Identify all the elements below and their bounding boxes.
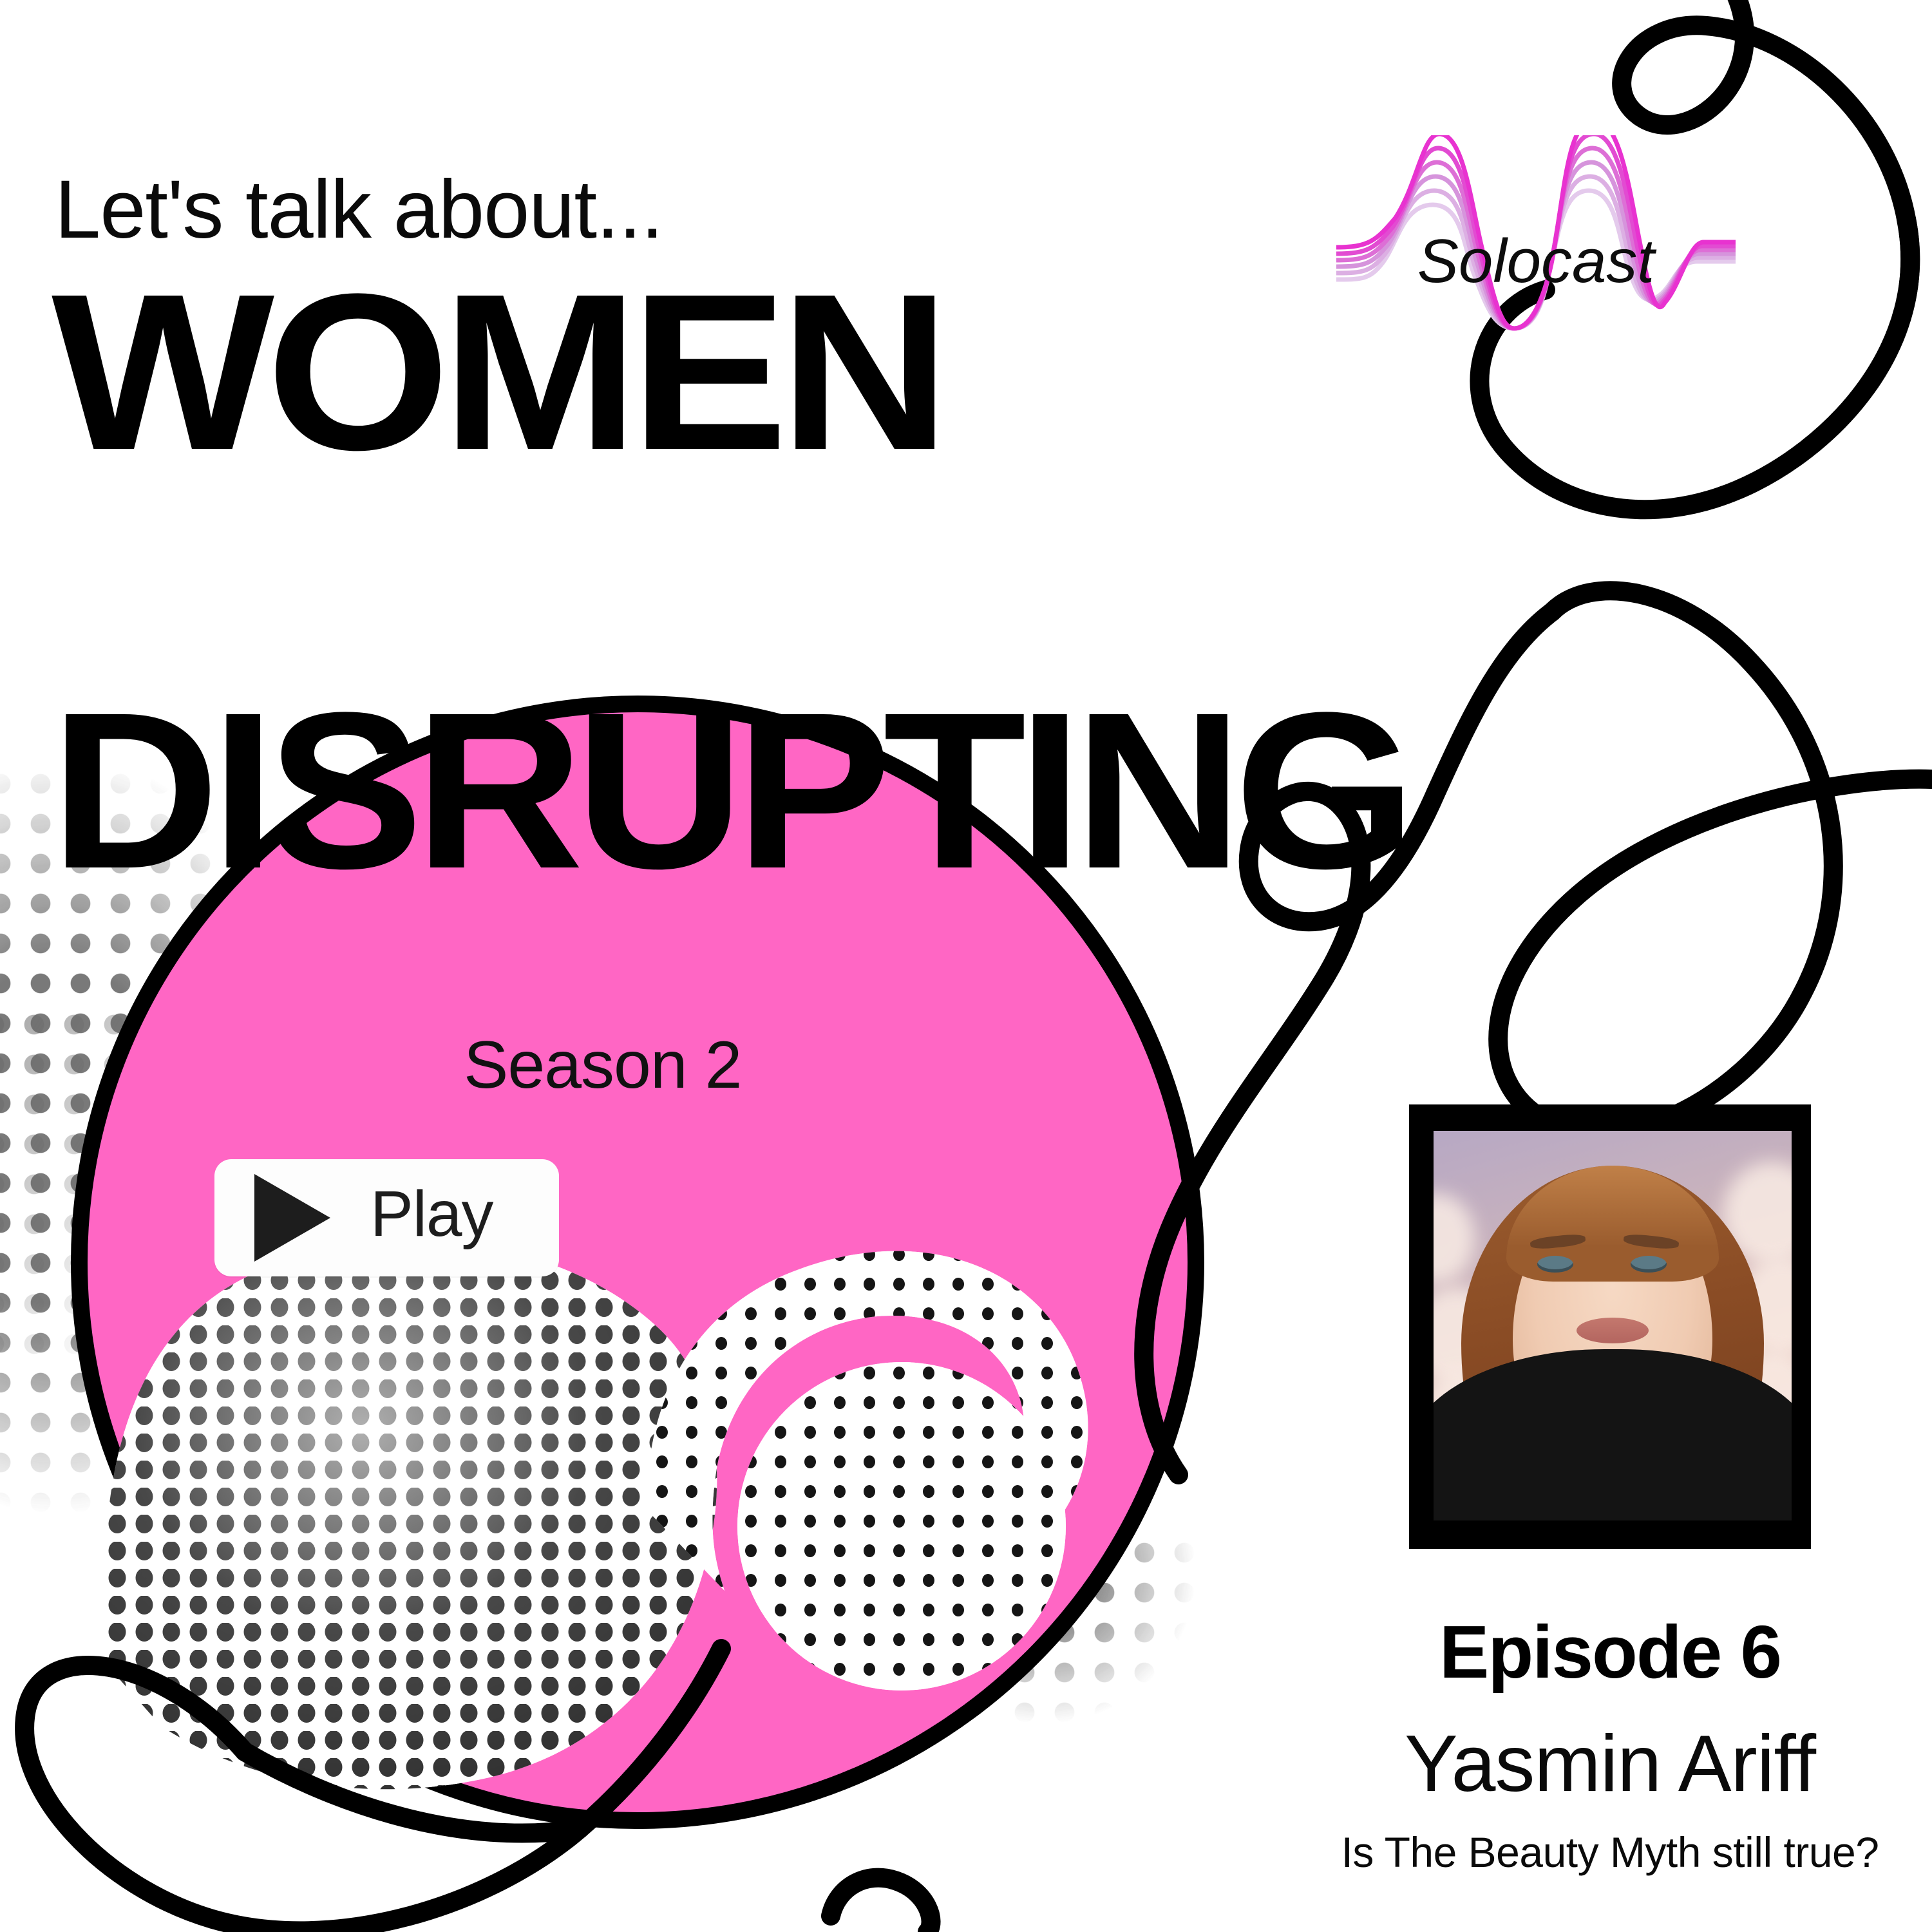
episode-number: Episode 6	[1439, 1609, 1781, 1695]
podcast-cover-artwork: Let's talk about... WOMEN DISRUPTING Sea…	[0, 0, 1932, 1932]
solocast-logo: Solocast	[1336, 135, 1736, 386]
eye	[1537, 1256, 1573, 1273]
play-button[interactable]: Play	[214, 1159, 559, 1276]
play-triangle-icon	[254, 1174, 330, 1262]
guest-name: Yasmin Ariff	[1405, 1718, 1815, 1810]
lips	[1577, 1318, 1649, 1343]
widgets-layer: Play Solocast	[0, 0, 1932, 1932]
solocast-wordmark: Solocast	[1417, 226, 1654, 297]
black-sweater	[1434, 1349, 1792, 1520]
eye	[1631, 1256, 1667, 1273]
play-button-label: Play	[370, 1182, 493, 1246]
bokeh-light	[1434, 1193, 1475, 1283]
guest-photo-frame	[1409, 1104, 1811, 1549]
guest-photo	[1434, 1131, 1792, 1520]
episode-subtitle: Is The Beauty Myth still true?	[1341, 1828, 1879, 1877]
